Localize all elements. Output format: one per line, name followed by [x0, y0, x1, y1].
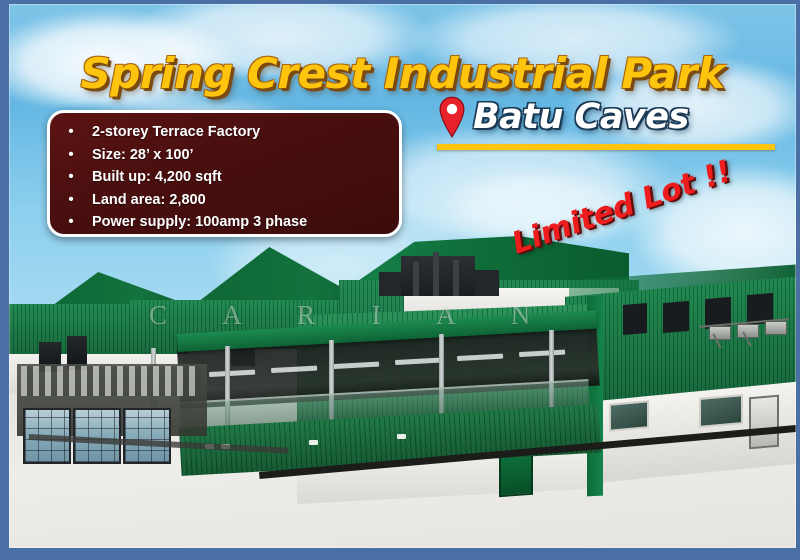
photo-stage: C A R I A N Spring Crest Industrial Park…: [9, 4, 796, 548]
map-pin-icon: [437, 96, 467, 138]
vent-fin: [433, 252, 439, 296]
bullet-icon: •: [50, 121, 92, 144]
tank-cage: [125, 410, 169, 462]
list-item: • Power supply: 100amp 3 phase: [50, 211, 399, 234]
list-item: • Size: 28’ x 100’: [50, 144, 399, 167]
roof-vent: [379, 272, 401, 296]
fence-marker: [397, 434, 406, 439]
location-row: Batu Caves: [437, 96, 777, 138]
spec-label: 2-storey Terrace Factory: [92, 121, 260, 144]
specs-panel: • 2-storey Terrace Factory • Size: 28’ x…: [47, 110, 402, 237]
bullet-icon: •: [50, 189, 92, 212]
spec-label: Power supply: 100amp 3 phase: [92, 211, 307, 234]
bullet-icon: •: [50, 211, 92, 234]
location-underline: [437, 144, 775, 150]
roof-vent: [475, 270, 499, 296]
list-item: • Built up: 4,200 sqft: [50, 166, 399, 189]
spec-label: Built up: 4,200 sqft: [92, 166, 222, 189]
shed-grille: [21, 366, 201, 396]
entry-door: [749, 395, 779, 450]
property-poster: C A R I A N Spring Crest Industrial Park…: [0, 0, 800, 560]
vent-fin: [413, 262, 419, 296]
location-name: Batu Caves: [473, 97, 689, 137]
specs-list: • 2-storey Terrace Factory • Size: 28’ x…: [50, 121, 399, 234]
bullet-icon: •: [50, 144, 92, 167]
list-item: • Land area: 2,800: [50, 189, 399, 212]
ground-window: [699, 394, 743, 428]
watermark-text: C A R I A N: [149, 300, 789, 340]
water-tank: [123, 408, 171, 464]
list-item: • 2-storey Terrace Factory: [50, 121, 399, 144]
ground-window: [609, 400, 649, 431]
fence-marker: [309, 440, 318, 445]
location-block: Batu Caves: [437, 96, 777, 138]
spec-label: Size: 28’ x 100’: [92, 144, 194, 167]
page-title: Spring Crest Industrial Park: [9, 49, 796, 98]
vent-fin: [453, 260, 459, 296]
bullet-icon: •: [50, 166, 92, 189]
spec-label: Land area: 2,800: [92, 189, 206, 212]
